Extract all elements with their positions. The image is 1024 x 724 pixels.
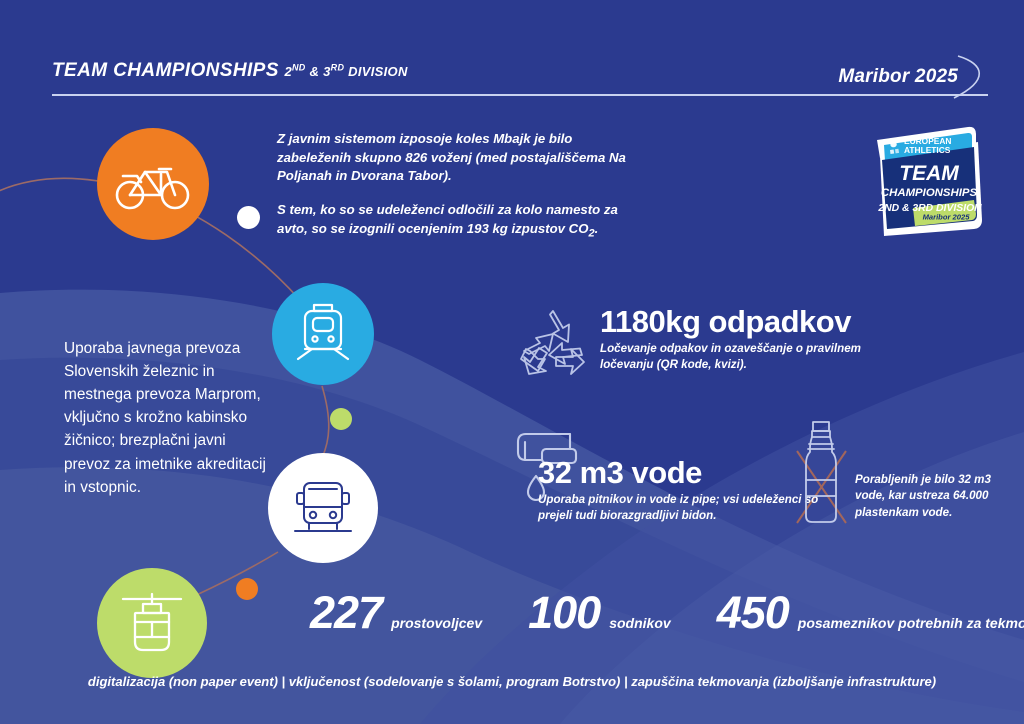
poster-header: TEAM CHAMPIONSHIPS 2ND & 3RD DIVISION Ma… [0,26,1024,78]
page-title: TEAM CHAMPIONSHIPS 2ND & 3RD DIVISION [52,60,408,82]
waste-stat-block: 1180kg odpadkov Ločevanje odpakov in oza… [600,304,900,373]
ea-logo-line4: CHAMPIONSHIPS [881,187,978,199]
number-value-individuals: 450 [717,590,789,635]
ea-logo-line2: ATHLETICS [904,145,951,155]
number-group-judges: 100 sodnikov [528,590,671,635]
bicycle-icon [115,156,191,212]
bicycle-paragraph-2: S tem, ko so se udeleženci odločili za k… [277,201,649,242]
train-icon [290,301,356,367]
infographic-poster: TEAM CHAMPIONSHIPS 2ND & 3RD DIVISION Ma… [0,0,1024,724]
public-transport-text-block: Uporaba javnega prevoza Slovenskih želez… [64,337,269,499]
number-group-individuals: 450 posameznikov potrebnih za tekmovalni… [717,590,1024,635]
number-value-judges: 100 [528,590,600,635]
waste-subtext: Ločevanje odpakov in ozaveščanje o pravi… [600,341,900,373]
cable-car-circle [97,568,207,678]
footer-tagline: digitalizacija (non paper event) | vklju… [0,674,1024,689]
number-group-volunteers: 227 prostovoljcev [310,590,482,635]
header-curve-decoration [944,54,1000,100]
key-numbers-row: 227 prostovoljcev 100 sodnikov 450 posam… [310,590,1024,635]
cable-car-icon [117,590,187,656]
bottle-text-block: Porabljenih je bilo 32 m3 vode, kar ustr… [855,472,1020,521]
ea-logo-line6: Maribor 2025 [923,213,971,222]
connector-dot-orange [236,578,258,600]
bicycle-paragraph-1: Z javnim sistemom izposoje koles Mbajk j… [277,130,649,186]
bus-circle [268,453,378,563]
european-athletics-logo: EUROPEAN ATHLETICS TEAM CHAMPIONSHIPS 2N… [868,118,984,236]
ea-logo-line3: TEAM [899,162,959,185]
connector-dot-green [330,408,352,430]
event-location-year: Maribor 2025 [838,66,958,88]
number-value-volunteers: 227 [310,590,382,635]
number-label-judges: sodnikov [609,615,670,631]
plastic-bottle-crossed-icon [790,418,852,528]
number-label-volunteers: prostovoljcev [391,615,482,631]
recycling-icon [516,305,590,379]
page-title-division: 2ND & 3RD DIVISION [284,64,407,79]
train-circle [272,283,374,385]
number-label-individuals: posameznikov potrebnih za tekmovalni dan [798,615,1024,631]
bicycle-text-block: Z javnim sistemom izposoje koles Mbajk j… [277,130,649,242]
bicycle-circle [97,128,209,240]
header-divider [52,94,988,96]
bus-icon [287,475,359,541]
waste-headline: 1180kg odpadkov [600,304,900,340]
connector-dot-white [237,206,260,229]
page-title-main: TEAM CHAMPIONSHIPS [52,60,279,81]
